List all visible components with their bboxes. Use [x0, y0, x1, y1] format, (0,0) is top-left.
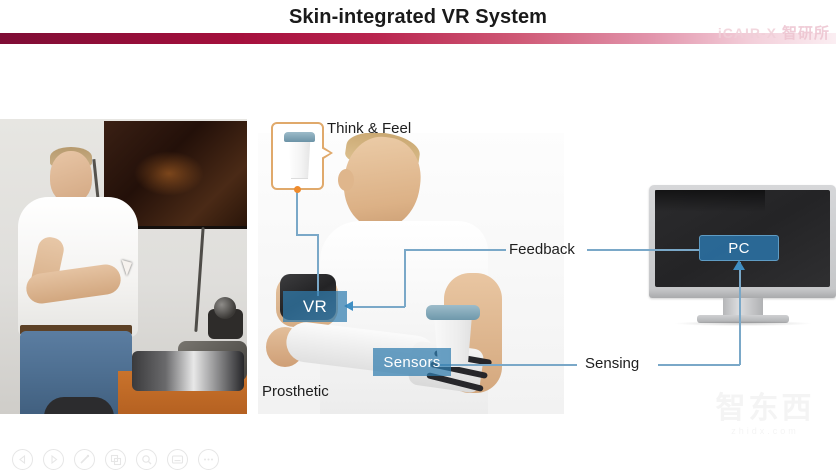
search-icon[interactable] [136, 449, 157, 470]
thought-cup-lid-icon [284, 132, 315, 142]
watermark: 智东西 zhidx.com [702, 394, 828, 436]
connector-feedback [404, 249, 406, 307]
connector-feedback [347, 306, 405, 308]
thought-bubble-tail [322, 146, 333, 160]
tv-glow [134, 151, 204, 196]
play-icon[interactable] [43, 449, 64, 470]
subject-ear [338, 169, 354, 191]
conference-camera [208, 309, 243, 339]
slide-canvas: Skin-integrated VR System iCAIR-X智研所 [0, 0, 836, 472]
prosthetic-kit-on-table [132, 351, 244, 391]
coffee-cup-lid [426, 305, 480, 320]
thought-bubble [271, 122, 324, 190]
connector-sensing [437, 364, 577, 366]
previous-icon[interactable] [12, 449, 33, 470]
monitor-screen-gloss [655, 190, 765, 212]
connector-vr-to-bubble [296, 234, 318, 236]
label-vr: VR [283, 291, 347, 322]
person-head [50, 151, 92, 203]
connector-vr-to-bubble [317, 234, 319, 296]
label-prosthetic: Prosthetic [262, 383, 329, 400]
office-chair [44, 397, 114, 414]
photo-patient-standing [0, 119, 247, 414]
connector-feedback [587, 249, 700, 251]
monitor-shadow [675, 321, 811, 326]
more-icon[interactable] [198, 449, 219, 470]
player-toolbar [12, 449, 219, 470]
label-think-and-feel: Think & Feel [327, 120, 411, 137]
label-feedback: Feedback [509, 241, 575, 258]
brand-logo-cjk: 智研所 [782, 24, 830, 42]
connector-sensing [658, 364, 740, 366]
pen-icon[interactable] [74, 449, 95, 470]
screen-icon[interactable] [167, 449, 188, 470]
connector-sensing [739, 262, 741, 365]
brand-logo: iCAIR-X智研所 [680, 22, 830, 44]
connector-vr-to-bubble [296, 190, 298, 234]
label-sensing: Sensing [585, 355, 639, 372]
watermark-logo-text: 智东西 [702, 394, 828, 424]
watermark-url: zhidx.com [702, 426, 828, 436]
label-pc: PC [699, 235, 779, 261]
thought-anchor-dot [294, 186, 301, 193]
arrowhead-sensing-icon [733, 260, 745, 270]
copy-icon[interactable] [105, 449, 126, 470]
label-sensors: Sensors [373, 348, 451, 376]
connector-feedback [404, 249, 506, 251]
brand-logo-text: iCAIR-X [718, 25, 777, 41]
thought-cup-icon [287, 137, 312, 179]
